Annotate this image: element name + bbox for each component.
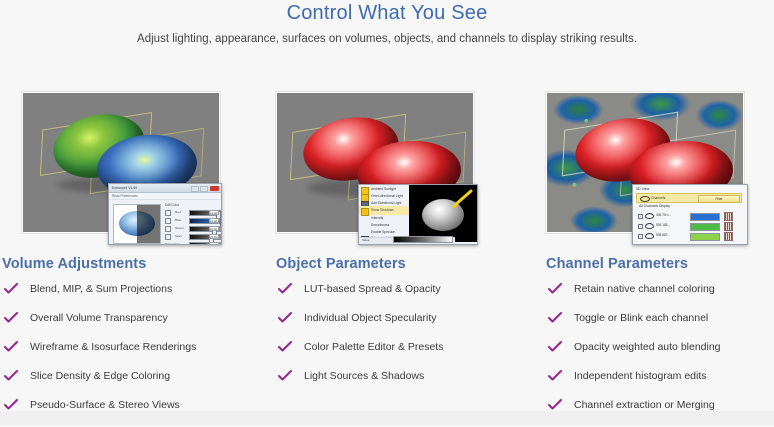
color-preview [113, 204, 161, 244]
panel-header: 3D View [636, 186, 649, 192]
check-icon [4, 283, 18, 295]
check-icon [278, 312, 292, 324]
list-item: Independent histogram edits [544, 369, 774, 393]
list-item-label: Independent histogram edits [574, 370, 707, 382]
close-icon[interactable] [210, 186, 219, 191]
histogram-icon[interactable] [724, 212, 733, 221]
channel-color-swatch[interactable] [690, 213, 720, 221]
page-root: Control What You See Adjust lighting, ap… [0, 0, 774, 425]
page-title: Control What You See [0, 2, 774, 25]
channel-color-swatch[interactable] [690, 223, 720, 231]
row-value[interactable]: 21.00 [209, 226, 219, 231]
color-row-blue[interactable]: ✓ Blue 21.00 [165, 217, 219, 223]
color-row-red[interactable]: ✓ Red 21.00 [165, 209, 219, 215]
channels-panel[interactable]: 3D View Channels Filter All Channels Dis… [632, 184, 748, 245]
all-channels-display-label: All Channels Display [639, 203, 670, 209]
row-dimension[interactable]: Dimension 21.00 [165, 241, 219, 245]
check-icon [4, 399, 18, 411]
list-item-label: Wireframe & Isosurface Renderings [30, 341, 196, 353]
row-label: Blue [175, 218, 181, 223]
check-icon [278, 370, 292, 382]
color-row-gray[interactable]: ✓ Gray 21.00 [165, 233, 219, 239]
list-item: Retain native channel coloring [544, 282, 774, 306]
value-label: Value [362, 237, 369, 244]
channels-group-row[interactable]: Channels Filter [636, 193, 742, 203]
check-icon [4, 341, 18, 353]
histogram-icon[interactable] [724, 232, 733, 241]
row-value[interactable]: 21.00 [209, 218, 219, 223]
channel-row[interactable]: + 536.185... [638, 221, 742, 230]
object-specularity-thumbnail[interactable]: Ambient Sunlight Omni-directional Light … [276, 88, 476, 243]
check-icon [4, 312, 18, 324]
check-icon [548, 312, 562, 324]
list-item: Slice Density & Edge Coloring [0, 369, 258, 393]
list-item-label: Pseudo-Surface & Stereo Views [30, 399, 180, 411]
footer-strip [0, 411, 774, 425]
row-checkbox[interactable]: ✓ [165, 210, 171, 216]
column-title: Volume Adjustments [2, 256, 146, 272]
column-channel-parameters: 3D View Channels Filter All Channels Dis… [516, 88, 774, 425]
eye-icon[interactable] [640, 196, 650, 202]
panel-body: 3D View Channels Filter All Channels Dis… [633, 185, 747, 244]
check-icon [548, 283, 562, 295]
dialog-menu-items: Redo Preferences [112, 193, 138, 200]
page-subtitle: Adjust lighting, appearance, surfaces on… [0, 33, 774, 45]
dialog-menubar[interactable]: Redo Preferences [109, 193, 221, 200]
feature-list: LUT-based Spread & Opacity Individual Ob… [274, 282, 532, 398]
dialog-title: Enhanced V1.00 [112, 185, 137, 192]
channel-coloring-thumbnail[interactable]: 3D View Channels Filter All Channels Dis… [546, 88, 746, 243]
row-checkbox[interactable]: ✓ [165, 234, 171, 240]
row-checkbox[interactable]: ✓ [165, 226, 171, 232]
list-item-label: Toggle or Blink each channel [574, 312, 708, 324]
feature-list: Blend, MIP, & Sum Projections Overall Vo… [0, 282, 258, 427]
list-item-label: Retain native channel coloring [574, 283, 715, 295]
row-label: Red [175, 210, 181, 215]
feature-list: Retain native channel coloring Toggle or… [544, 282, 774, 427]
value-gradient-bar[interactable] [393, 236, 453, 243]
channels-group-label: Channels [651, 195, 665, 202]
channel-row[interactable]: + 508.887... [638, 231, 742, 240]
channel-name: 536.185... [656, 222, 670, 229]
list-item-label: LUT-based Spread & Opacity [304, 283, 441, 295]
list-item-label: Channel extraction or Merging [574, 399, 715, 411]
list-item: Color Palette Editor & Presets [274, 340, 532, 364]
preview-shadow-half [137, 205, 160, 243]
light-properties-dialog[interactable]: Ambient Sunlight Omni-directional Light … [358, 184, 478, 245]
check-icon [548, 341, 562, 353]
channel-color-swatch[interactable] [690, 233, 720, 241]
edit-color-label: Edit Color [165, 203, 179, 208]
check-icon [548, 399, 562, 411]
channel-row[interactable]: + 405.75 n... [638, 211, 742, 220]
list-item-label: Slice Density & Edge Coloring [30, 370, 170, 382]
row-label: Green [175, 226, 184, 231]
filter-button[interactable]: Filter [698, 195, 740, 203]
check-icon [548, 370, 562, 382]
color-row-green[interactable]: ✓ Green 21.00 [165, 225, 219, 231]
maximize-icon[interactable] [200, 186, 208, 192]
list-item-label: Individual Object Specularity [304, 312, 437, 324]
row-value[interactable]: 21.00 [209, 242, 219, 246]
list-item: Light Sources & Shadows [274, 369, 532, 393]
list-item-label: Color Palette Editor & Presets [304, 341, 443, 353]
light-direction-arrow-icon [447, 189, 473, 209]
row-label: Gray [175, 234, 182, 239]
list-item: Blend, MIP, & Sum Projections [0, 282, 258, 306]
list-item: Opacity weighted auto blending [544, 340, 774, 364]
row-value[interactable]: 21.00 [209, 210, 219, 215]
dialog-body: Ambient Sunlight Omni-directional Light … [359, 185, 477, 244]
volume-rendering-thumbnail[interactable]: Enhanced V1.00 Redo Preferences Ed [22, 88, 222, 243]
list-item-label: Overall Volume Transparency [30, 312, 168, 324]
expand-icon[interactable]: + [638, 214, 643, 219]
list-item: LUT-based Spread & Opacity [274, 282, 532, 306]
dialog-bottom-bar: Value [359, 237, 455, 244]
row-value[interactable]: 21.00 [209, 234, 219, 239]
channel-name: 405.75 n... [656, 212, 671, 219]
check-icon [278, 341, 292, 353]
feature-columns: Enhanced V1.00 Redo Preferences Ed [0, 88, 774, 425]
histogram-icon[interactable] [724, 222, 733, 231]
list-item: Overall Volume Transparency [0, 311, 258, 335]
minimize-icon[interactable] [191, 186, 199, 192]
list-item-label: Blend, MIP, & Sum Projections [30, 283, 172, 295]
list-item: Toggle or Blink each channel [544, 311, 774, 335]
check-icon [278, 283, 292, 295]
eye-icon[interactable] [645, 233, 654, 239]
eye-icon[interactable] [645, 223, 654, 229]
list-item-label: Opacity weighted auto blending [574, 341, 721, 353]
column-title: Object Parameters [276, 256, 406, 272]
expand-icon[interactable]: + [638, 224, 643, 229]
list-item: Individual Object Specularity [274, 311, 532, 335]
list-item: Wireframe & Isosurface Renderings [0, 340, 258, 364]
edit-color-dialog[interactable]: Enhanced V1.00 Redo Preferences Ed [108, 183, 222, 245]
expand-icon[interactable]: + [638, 234, 643, 239]
check-icon [4, 370, 18, 382]
column-object-parameters: Ambient Sunlight Omni-directional Light … [258, 88, 516, 425]
column-volume-adjustments: Enhanced V1.00 Redo Preferences Ed [0, 88, 258, 425]
column-title: Channel Parameters [546, 256, 688, 272]
row-checkbox[interactable]: ✓ [165, 218, 171, 224]
row-label: Dimension [165, 242, 180, 246]
light-row-label: Show Shadows [371, 207, 394, 214]
channel-name: 508.887... [656, 232, 670, 239]
light-preview-sphere [409, 185, 477, 242]
eye-icon[interactable] [645, 213, 654, 219]
list-item-label: Light Sources & Shadows [304, 370, 424, 382]
